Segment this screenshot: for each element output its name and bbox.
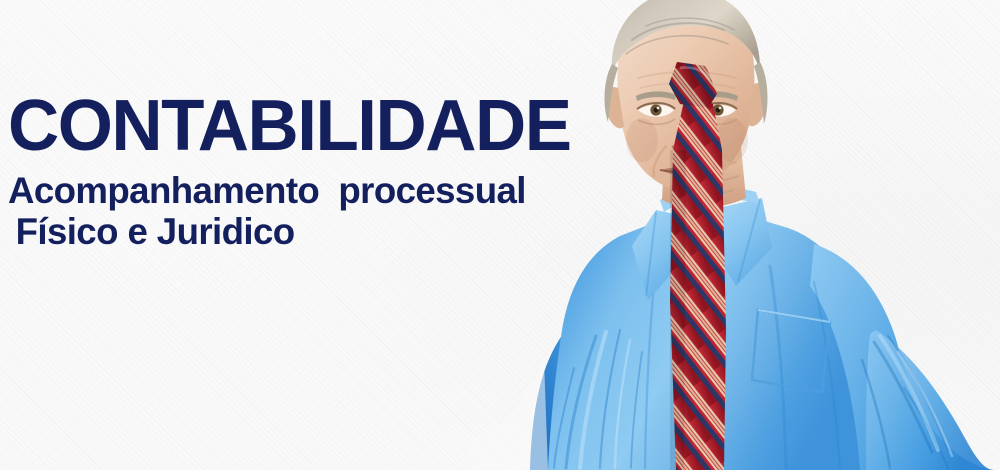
subtitle-line-2: Físico e Juridico (6, 211, 573, 252)
headline-block: CONTABILIDADE Acompanhamento processual … (8, 96, 579, 253)
tie-body-shadow (670, 150, 686, 470)
subtitle-line-1: Acompanhamento processual (8, 170, 573, 211)
page-title: CONTABILIDADE (8, 96, 571, 158)
contabilidade-banner: CONTABILIDADE Acompanhamento processual … (0, 0, 1000, 470)
photo-edge-fade (470, 360, 548, 470)
